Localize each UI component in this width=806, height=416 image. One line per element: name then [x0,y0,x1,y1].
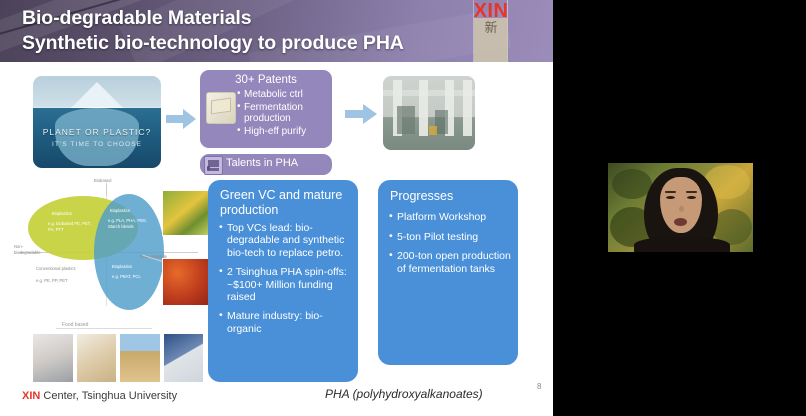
nose [679,206,684,212]
green-vc-bullet-list: Top VCs lead: bio-degradable and synthet… [219,222,353,342]
list-item: High-eff purify [237,126,329,138]
page-number: 8 [537,382,541,391]
list-item: Metabolic ctrl [237,89,329,101]
venn-region-title: Conventional plastics [36,266,80,272]
mouth [674,218,687,226]
iceberg-tip-shape [71,82,123,108]
green-vc-box: Green VC and mature production Top VCs l… [208,180,358,382]
machinery-shape [397,106,415,134]
eye-right [687,196,696,199]
footer-accent-text: XIN [22,390,40,402]
speaker-video-tile[interactable] [608,163,753,252]
venn-region-examples: e.g. PLA, PHA, PBS, Starch blends [108,218,154,229]
list-item: Mature industry: bio-organic [219,310,353,335]
column-shape [463,80,472,136]
plastic-bag-photo [32,333,74,383]
progresses-bullet-list: Platform Workshop 5-ton Pilot testing 20… [389,211,513,282]
list-item: Platform Workshop [389,211,513,224]
eye-left [666,196,675,199]
list-item: 2 Tsinghua PHA spin-offs: ~$100+ Million… [219,266,353,303]
venn-region-title: Bioplastics [112,264,132,270]
product-photo-strip [32,333,204,383]
eyebrow-left [665,191,676,193]
strip-leader-line [56,328,152,329]
venn-region-examples: e.g. PE, PP, PET [36,278,80,284]
venn-region-title: Bioplastics [52,211,72,217]
list-item: Fermentation production [237,102,329,125]
title-line-2: Synthetic bio-technology to produce PHA [22,31,452,56]
audience-shape [210,168,219,171]
waterline [33,107,161,108]
patents-heading: 30+ Patents [200,74,332,86]
speaker-shoulders [634,237,730,252]
page-title: Bio-degradable Materials Synthetic bio-t… [22,6,452,56]
road-path-photo [119,333,161,383]
iceberg-caption-line-2: IT'S TIME TO CHOOSE [33,141,161,148]
footer-rest-text: Center, Tsinghua University [40,390,177,402]
venn-region-examples: e.g. PBAT, PCL [112,274,156,280]
screen: Bio-degradable Materials Synthetic bio-t… [0,0,806,416]
logo-latin-text: XIN [466,1,516,21]
presentation-slide: Bio-degradable Materials Synthetic bio-t… [0,0,553,416]
iceberg-caption-line-1: PLANET OR PLASTIC? [33,126,161,139]
progresses-box: Progresses Platform Workshop 5-ton Pilot… [378,180,518,365]
list-item: 5-ton Pilot testing [389,231,513,244]
list-item: Top VCs lead: bio-degradable and synthet… [219,222,353,259]
pha-definition-note: PHA (polyhydroxyalkanoates) [325,387,483,401]
patents-box: 30+ Patents Metabolic ctrl Fermentation … [200,70,332,148]
bottles-photo [163,333,205,383]
green-vc-heading: Green VC and mature production [220,188,350,218]
venn-label-top: Biobased [94,178,111,184]
bioplastics-venn-chart: Biobased Biodegradable Non-biodegradable… [14,178,210,310]
column-shape [419,80,428,136]
patent-document-icon [206,92,236,124]
arrow-right-icon [345,103,377,125]
venn-region-examples: e.g. biobased PE, PET, PA, PTT [48,221,96,232]
eyebrow-right [686,191,697,193]
list-item: 200-ton open production of fermentation … [389,250,513,275]
venn-label-left: Non-biodegradable [14,244,36,255]
wooden-utensils-photo [76,333,118,383]
tomatoes-photo [162,258,212,306]
arrow-right-icon [166,108,196,130]
corn-photo [162,190,212,236]
talents-box: Talents in PHA [200,154,332,175]
presenter-board-icon [204,156,223,175]
machinery-shape [429,126,437,135]
progresses-heading: Progresses [390,189,510,203]
leader-line [106,184,107,196]
title-line-1: Bio-degradable Materials [22,7,252,29]
patents-bullet-list: Metabolic ctrl Fermentation production H… [237,89,329,138]
venn-region-title: Bioplastics [110,208,130,214]
logo-chinese-text: 新 [474,18,508,62]
xin-logo: 新 XIN [466,0,516,62]
slide-header: Bio-degradable Materials Synthetic bio-t… [0,0,553,62]
talents-label: Talents in PHA [226,157,298,169]
photo-strip-label: Food based [62,322,88,328]
fermentation-factory-photo [383,76,475,150]
footer-organization: XIN Center, Tsinghua University [22,390,177,402]
planet-or-plastic-image: PLANET OR PLASTIC? IT'S TIME TO CHOOSE [33,76,161,168]
